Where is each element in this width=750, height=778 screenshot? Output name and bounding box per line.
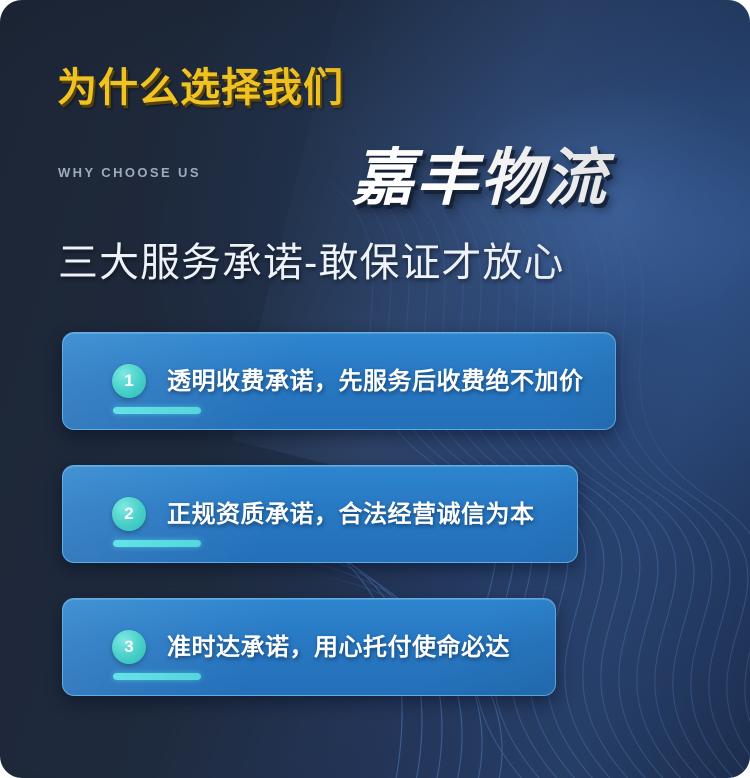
- promise-text: 正规资质承诺，合法经营诚信为本: [167, 494, 535, 529]
- brand-name: 嘉丰物流: [352, 127, 608, 217]
- page-title: 为什么选择我们: [57, 55, 344, 113]
- promise-accent-bar: [113, 407, 201, 414]
- promise-card[interactable]: 1 透明收费承诺，先服务后收费绝不加价: [62, 332, 616, 430]
- promise-accent-bar: [113, 540, 201, 547]
- promise-text: 透明收费承诺，先服务后收费绝不加价: [167, 361, 584, 396]
- promise-accent-bar: [113, 673, 201, 680]
- promise-number-badge: 3: [112, 630, 146, 664]
- promise-card[interactable]: 2 正规资质承诺，合法经营诚信为本: [62, 465, 578, 563]
- headline-block: 为什么选择我们 WHY CHOOSE US 嘉丰物流 三大服务承诺-敢保证才放心: [0, 0, 750, 310]
- promise-number-badge: 1: [112, 364, 146, 398]
- promise-text: 准时达承诺，用心托付使命必达: [167, 627, 510, 662]
- section-heading: 三大服务承诺-敢保证才放心: [58, 230, 564, 288]
- promise-card[interactable]: 3 准时达承诺，用心托付使命必达: [62, 598, 556, 696]
- page-subtitle-english: WHY CHOOSE US: [58, 165, 201, 180]
- promo-poster: 为什么选择我们 WHY CHOOSE US 嘉丰物流 三大服务承诺-敢保证才放心…: [0, 0, 750, 778]
- promise-number-badge: 2: [112, 497, 146, 531]
